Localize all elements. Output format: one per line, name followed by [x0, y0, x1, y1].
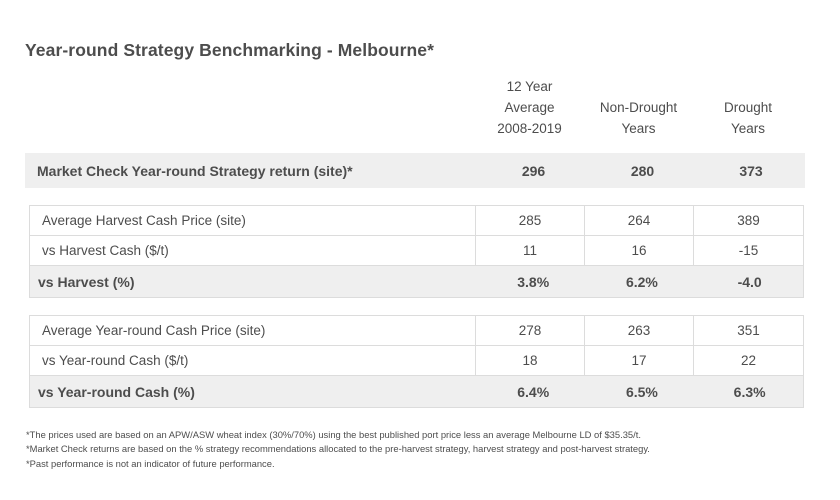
summary-row-market-check-return: Market Check Year-round Strategy return … — [25, 153, 805, 188]
column-header-line-1: 12 Year — [475, 76, 584, 97]
row-value-12-year-average: 278 — [476, 316, 585, 345]
row-value-drought: 389 — [694, 206, 803, 235]
row-label: vs Harvest Cash ($/t) — [30, 236, 476, 265]
column-header-line-3: Years — [584, 118, 693, 139]
header-label-spacer — [25, 76, 475, 139]
row-value-non-drought: 264 — [585, 206, 694, 235]
footnote-market-check-returns: *Market Check returns are based on the %… — [26, 442, 650, 456]
table-block-harvest: Average Harvest Cash Price (site) 285 26… — [29, 205, 804, 298]
table-row: vs Harvest Cash ($/t) 11 16 -15 — [30, 236, 803, 266]
row-value-12-year-average: 6.4% — [479, 376, 588, 407]
column-header-line-3: 2008-2019 — [475, 118, 584, 139]
row-value-non-drought: 280 — [588, 153, 697, 188]
footnote-past-performance: *Past performance is not an indicator of… — [26, 457, 650, 471]
row-value-12-year-average: 3.8% — [479, 266, 588, 297]
row-value-12-year-average: 285 — [476, 206, 585, 235]
row-value-non-drought: 16 — [585, 236, 694, 265]
row-value-non-drought: 6.5% — [588, 376, 697, 407]
row-label: vs Year-round Cash ($/t) — [30, 346, 476, 375]
table-row-summary: vs Year-round Cash (%) 6.4% 6.5% 6.3% — [30, 376, 803, 407]
footnotes: *The prices used are based on an APW/ASW… — [26, 428, 650, 471]
row-label: vs Harvest (%) — [30, 266, 479, 297]
row-value-drought: 351 — [694, 316, 803, 345]
row-value-12-year-average: 18 — [476, 346, 585, 375]
row-label: Average Year-round Cash Price (site) — [30, 316, 476, 345]
column-header-line-2: Drought — [693, 97, 803, 118]
row-value-non-drought: 263 — [585, 316, 694, 345]
column-header-12-year-average: 12 Year Average 2008-2019 — [475, 76, 584, 139]
row-label: Market Check Year-round Strategy return … — [25, 153, 479, 188]
column-header-non-drought-years: Non-Drought Years — [584, 76, 693, 139]
footnote-prices: *The prices used are based on an APW/ASW… — [26, 428, 650, 442]
row-value-drought: -15 — [694, 236, 803, 265]
row-value-non-drought: 6.2% — [588, 266, 697, 297]
table-block-year-round: Average Year-round Cash Price (site) 278… — [29, 315, 804, 408]
table-row-summary: vs Harvest (%) 3.8% 6.2% -4.0 — [30, 266, 803, 297]
row-value-drought: -4.0 — [696, 266, 803, 297]
row-label: Average Harvest Cash Price (site) — [30, 206, 476, 235]
table-row: Average Harvest Cash Price (site) 285 26… — [30, 206, 803, 236]
column-header-line-2: Non-Drought — [584, 97, 693, 118]
page-title: Year-round Strategy Benchmarking - Melbo… — [25, 40, 434, 61]
header-row: 12 Year Average 2008-2019 Non-Drought Ye… — [25, 76, 805, 139]
column-header-drought-years: Drought Years — [693, 76, 803, 139]
table-row: Average Year-round Cash Price (site) 278… — [30, 316, 803, 346]
row-value-drought: 6.3% — [696, 376, 803, 407]
column-header-line-3: Years — [693, 118, 803, 139]
row-value-drought: 373 — [697, 153, 805, 188]
row-value-12-year-average: 11 — [476, 236, 585, 265]
row-value-non-drought: 17 — [585, 346, 694, 375]
table-column-headers: 12 Year Average 2008-2019 Non-Drought Ye… — [25, 76, 805, 139]
benchmarking-table-page: Year-round Strategy Benchmarking - Melbo… — [0, 0, 840, 500]
row-value-drought: 22 — [694, 346, 803, 375]
row-value-12-year-average: 296 — [479, 153, 588, 188]
column-header-line-2: Average — [475, 97, 584, 118]
row-label: vs Year-round Cash (%) — [30, 376, 479, 407]
table-row: vs Year-round Cash ($/t) 18 17 22 — [30, 346, 803, 376]
